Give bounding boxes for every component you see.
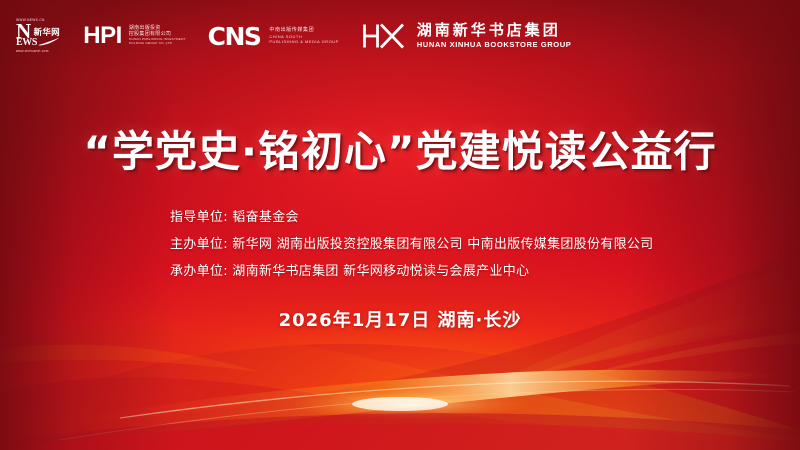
- organizer-line-guidance: 指导单位: 韬奋基金会: [170, 206, 630, 225]
- logo-hunan-xinhua-bookstore[interactable]: 湖南新华书店集团 HUNAN XINHUA BOOKSTORE GROUP: [361, 22, 572, 50]
- poster-title: “学党史·铭初心”党建悦读公益行: [0, 118, 800, 179]
- sponsor-logo-bar: WWW.NEWS.CN N 新华网 EWS www.xinhuanet.com …: [16, 14, 784, 58]
- organizer-line-organizer: 承办单位: 湖南新华书店集团 新华网移动悦读与会展产业中心: [170, 260, 630, 279]
- cns-wordmark: CNS: [208, 24, 261, 49]
- organizer-block: 指导单位: 韬奋基金会 主办单位: 新华网 湖南出版投资控股集团有限公司 中南出…: [0, 206, 800, 279]
- hx-en-name: HUNAN XINHUA BOOKSTORE GROUP: [417, 41, 572, 50]
- xinhuanet-swoosh-icon: [38, 37, 60, 46]
- poster-canvas: WWW.NEWS.CN N 新华网 EWS www.xinhuanet.com …: [0, 0, 800, 450]
- hx-monogram-icon: [361, 22, 407, 50]
- cns-en-line2: PUBLISHING & MEDIA GROUP: [269, 39, 338, 44]
- logo-xinhuanet[interactable]: WWW.NEWS.CN N 新华网 EWS www.xinhuanet.com: [16, 19, 61, 53]
- hx-cn-name: 湖南新华书店集团: [417, 22, 572, 39]
- xinhuanet-mark-letters-bottom: EWS: [16, 38, 37, 48]
- hpi-wordmark: HPI: [83, 24, 122, 48]
- organizer-line-host: 主办单位: 新华网 湖南出版投资控股集团有限公司 中南出版传媒集团股份有限公司: [170, 233, 630, 252]
- event-date-location: 2026年1月17日 湖南·长沙: [0, 306, 800, 332]
- xinhuanet-url-bottom: www.xinhuanet.com: [16, 50, 49, 53]
- logo-hpi[interactable]: HPI 湖南出版投资 控股集团有限公司 HUNAN PUBLISHING INV…: [83, 24, 185, 48]
- cns-cn-name: 中南出版传媒集团: [269, 27, 338, 34]
- logo-cns[interactable]: CNS 中南出版传媒集团 CHINA SOUTH PUBLISHING & ME…: [208, 24, 339, 49]
- hpi-en-line2: HOLDING GROUP CO.,LTD: [129, 42, 186, 46]
- xinhuanet-url-top: WWW.NEWS.CN: [16, 19, 45, 23]
